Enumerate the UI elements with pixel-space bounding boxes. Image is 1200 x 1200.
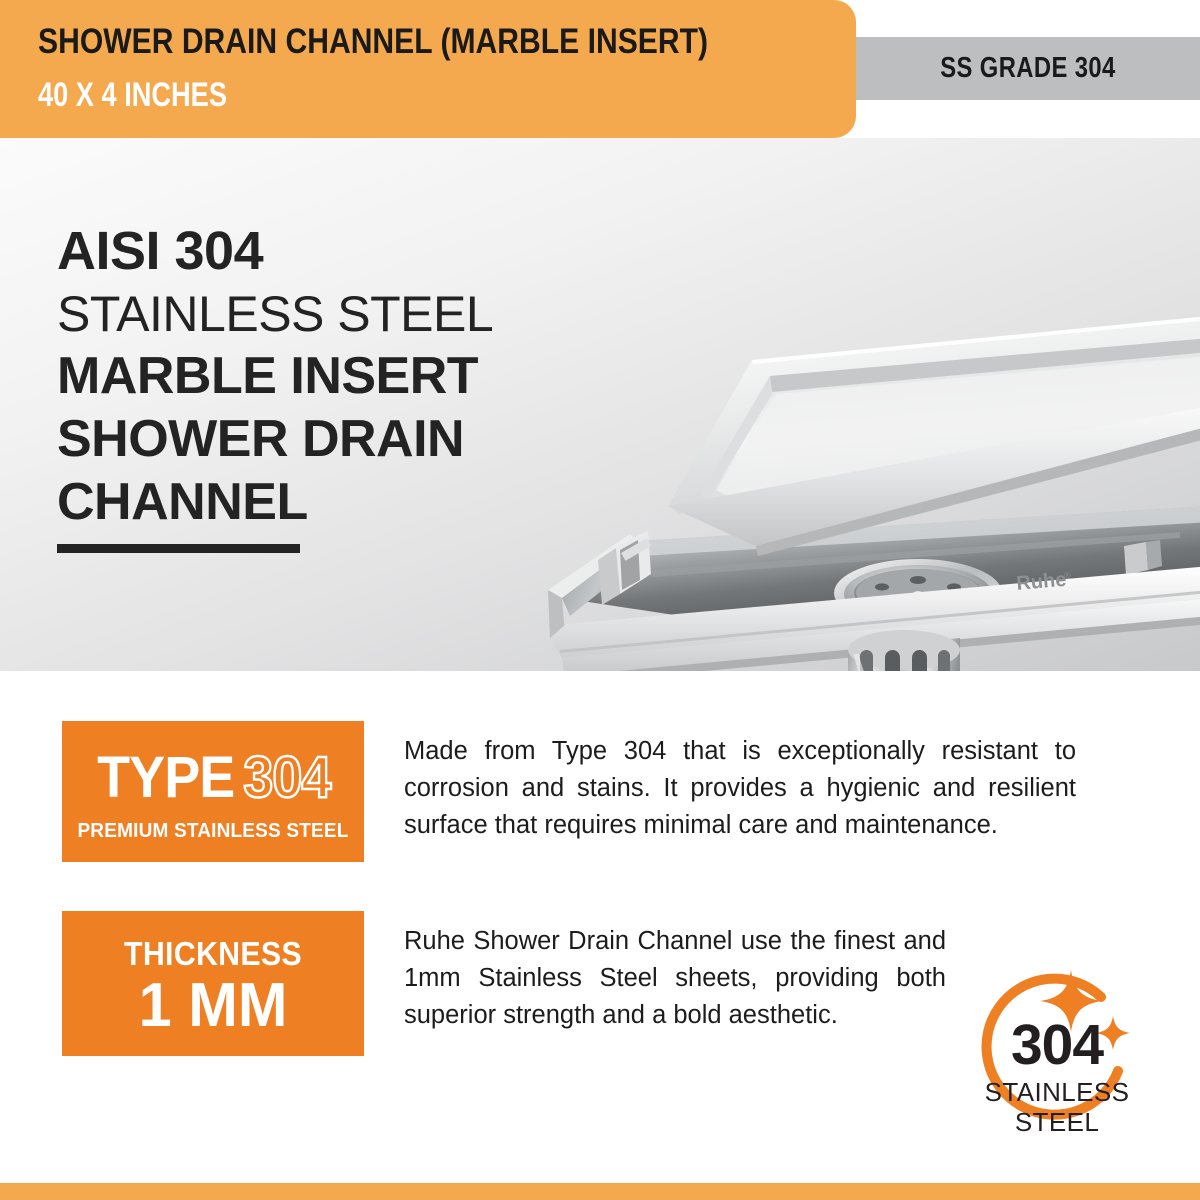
badge-type-word: TYPE — [98, 749, 235, 807]
seal-line-2: STEEL — [958, 1109, 1156, 1135]
headline-underline — [57, 544, 300, 553]
headline-line-4: SHOWER DRAIN — [57, 413, 577, 465]
hero-headline: AISI 304 STAINLESS STEEL MARBLE INSERT S… — [57, 224, 577, 553]
feature-paragraph-1: Made from Type 304 that is exceptionally… — [404, 733, 1076, 844]
hero-section: AISI 304 STAINLESS STEEL MARBLE INSERT S… — [0, 138, 1200, 671]
svg-text:Ruhe: Ruhe — [1016, 569, 1068, 595]
headline-line-3: MARBLE INSERT — [57, 350, 577, 402]
seal-line-1: STAINLESS — [958, 1079, 1156, 1105]
product-photo: Ruhe ® — [520, 298, 1200, 728]
grade-tab: SS GRADE 304 — [855, 37, 1200, 100]
badge-type-304-headline: TYPE304 — [62, 749, 364, 807]
grade-tab-label: SS GRADE 304 — [940, 52, 1115, 85]
header-banner: SS GRADE 304 SHOWER DRAIN CHANNEL (MARBL… — [0, 0, 1200, 140]
seal-number: 304 — [958, 1017, 1156, 1074]
badge-type-number: 304 — [243, 749, 330, 807]
svg-text:®: ® — [1064, 570, 1072, 581]
product-title: SHOWER DRAIN CHANNEL (MARBLE INSERT) — [38, 22, 726, 62]
headline-line-5: CHANNEL — [57, 476, 577, 528]
headline-line-2: STAINLESS STEEL — [57, 289, 577, 339]
badge-type-304-subtitle: PREMIUM STAINLESS STEEL — [70, 820, 357, 843]
badge-thickness: THICKNESS 1 MM — [62, 911, 364, 1056]
product-size: 40 X 4 INCHES — [38, 76, 678, 115]
headline-line-1: AISI 304 — [57, 224, 577, 278]
badge-thickness-value: 1 MM — [68, 973, 358, 1038]
badge-type-304: TYPE304 PREMIUM STAINLESS STEEL — [62, 721, 364, 862]
feature-paragraph-2: Ruhe Shower Drain Channel use the finest… — [404, 923, 946, 1034]
bottom-accent-bar — [0, 1183, 1200, 1200]
header-orange-panel — [0, 0, 856, 138]
badge-thickness-label: THICKNESS — [74, 935, 352, 973]
seal-304-stainless: 304 STAINLESS STEEL — [958, 963, 1156, 1153]
